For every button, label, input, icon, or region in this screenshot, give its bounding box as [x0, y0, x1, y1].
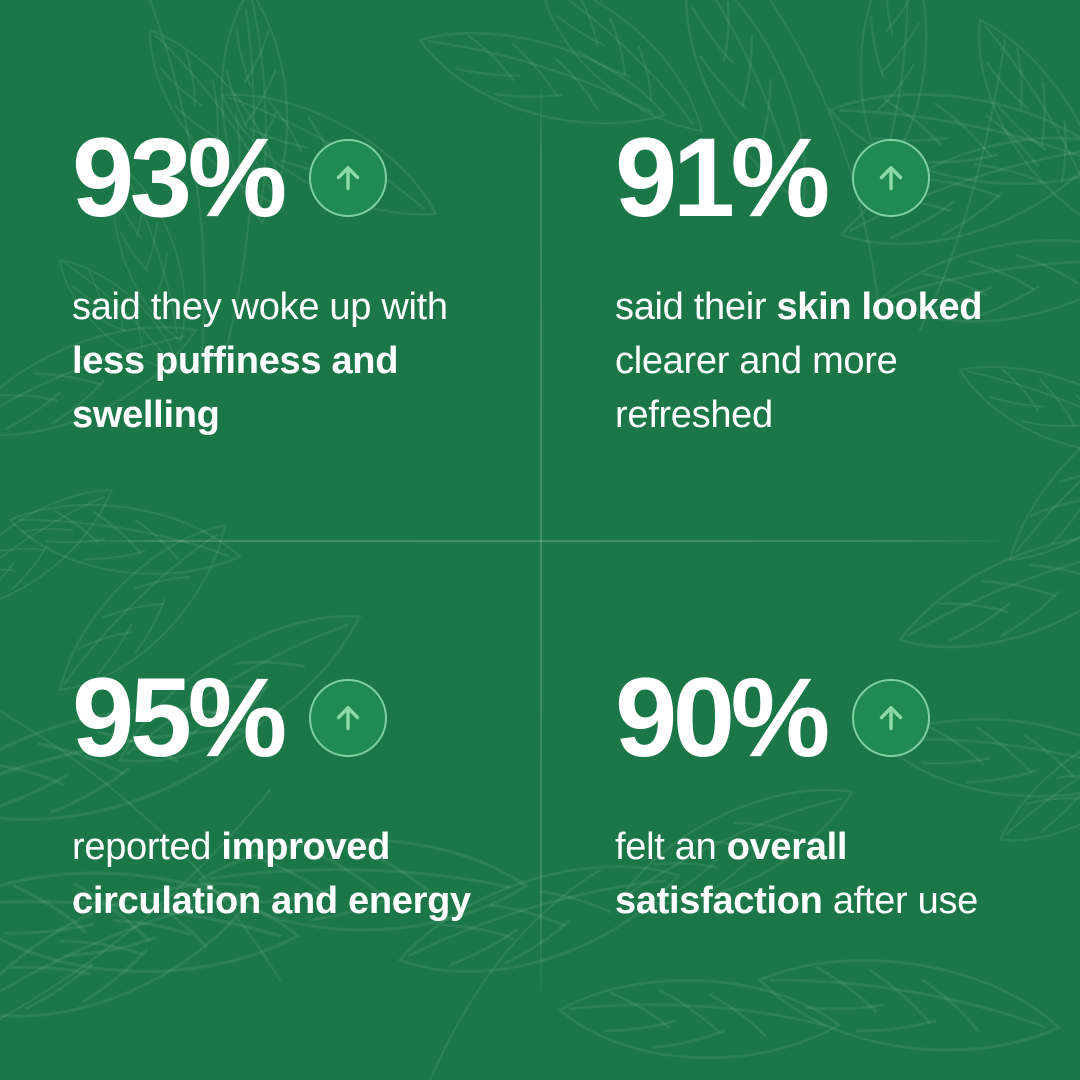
stat-value-4: 90%	[615, 662, 826, 774]
infographic-canvas: 93% said they woke up with less puffines…	[0, 0, 1080, 1080]
stat-value-3: 95%	[72, 662, 283, 774]
arrow-up-icon	[869, 156, 913, 200]
arrow-up-badge-3	[309, 679, 387, 757]
stat-card-2: 91% said their skin looked clearer and m…	[540, 0, 1080, 540]
stat-header-1: 93%	[72, 118, 540, 238]
stat-header-2: 91%	[615, 118, 1080, 238]
stats-grid: 93% said they woke up with less puffines…	[0, 0, 1080, 1080]
stat-caption-2: said their skin looked clearer and more …	[615, 280, 1015, 442]
arrow-up-badge-4	[852, 679, 930, 757]
stat-card-3: 95% reported improved circulation and en…	[0, 540, 540, 1080]
stat-card-4: 90% felt an overall satisfaction after u…	[540, 540, 1080, 1080]
stat-header-3: 95%	[72, 658, 540, 778]
stat-value-1: 93%	[72, 122, 283, 234]
stat-caption-3: reported improved circulation and energy	[72, 820, 472, 928]
stat-value-2: 91%	[615, 122, 826, 234]
arrow-up-icon	[326, 696, 370, 740]
arrow-up-badge-1	[309, 139, 387, 217]
arrow-up-icon	[326, 156, 370, 200]
stat-caption-1: said they woke up with less puffiness an…	[72, 280, 472, 442]
stat-card-1: 93% said they woke up with less puffines…	[0, 0, 540, 540]
arrow-up-icon	[869, 696, 913, 740]
stat-header-4: 90%	[615, 658, 1080, 778]
stat-caption-4: felt an overall satisfaction after use	[615, 820, 1015, 928]
arrow-up-badge-2	[852, 139, 930, 217]
